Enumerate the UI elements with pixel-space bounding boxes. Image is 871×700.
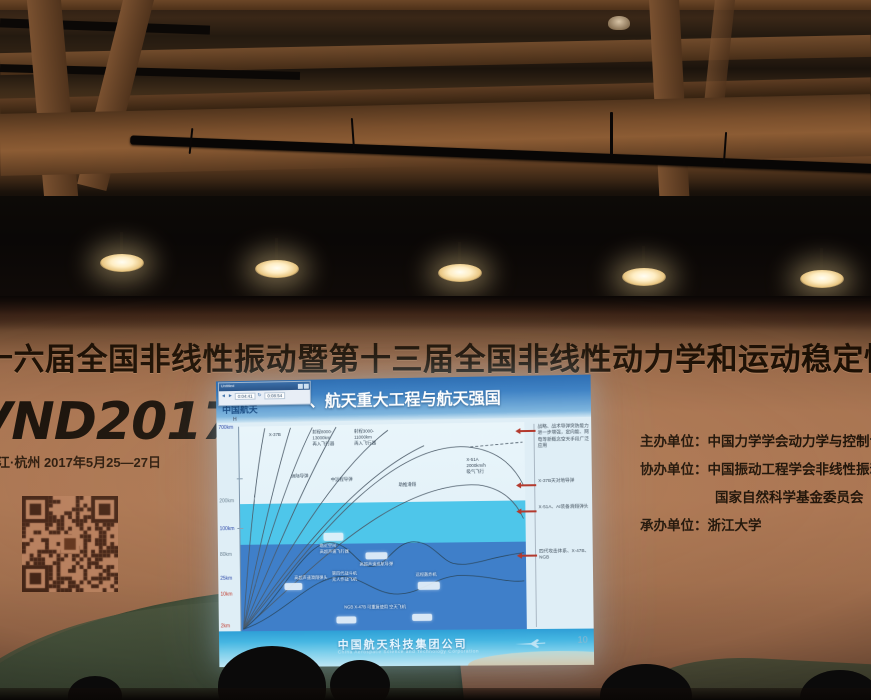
- chart-ylabel: H: [233, 417, 237, 423]
- organizer-row: 协办单位：中国振动工程学会非线性振动: [640, 456, 871, 484]
- spaceplane-glyph: [336, 616, 356, 623]
- pendant-stem: [458, 242, 461, 264]
- chart-curve-label: 中远程导弹: [331, 477, 353, 483]
- pendant-stem: [275, 238, 278, 260]
- media-time-current: 0:04:41: [235, 393, 256, 400]
- missile-glyph: [365, 552, 387, 559]
- pendant-bulb: [438, 264, 482, 282]
- slide-title: 、航天重大工程与航天强国: [309, 384, 501, 411]
- pendant-stem: [642, 246, 645, 268]
- organizer-label: 主办单位：: [640, 434, 708, 449]
- ceiling-dome-fixture: [608, 16, 630, 30]
- organizer-block: 主办单位：中国力学学会动力学与控制专 协办单位：中国振动工程学会非线性振动 国家…: [640, 428, 871, 540]
- trajectory-chart: H 700km 200km 100km 100km 80km 25km 10km…: [238, 422, 527, 632]
- chart-ytick: 700km: [218, 425, 233, 431]
- pendant-bulb: [255, 260, 299, 278]
- slide-page-number: 10: [578, 635, 588, 645]
- chart-curve-label: X-51A 2000km/h 吸气飞行: [466, 457, 486, 475]
- chart-object-label: 高超声速巡航导弹: [360, 561, 393, 567]
- chart-ytick: 200km: [219, 498, 234, 504]
- chart-curves: [239, 422, 527, 631]
- media-player-window[interactable]: Untitled ◄ ► 0:04:41 ↻ 0:08:54: [218, 381, 311, 407]
- organizer-row: 国家自然科学基金委员会: [640, 484, 871, 512]
- aircraft-glyph: [323, 533, 343, 541]
- pendant-bulb: [800, 270, 844, 288]
- pendant-light-1: [100, 248, 144, 270]
- footer-terrain-graphic: [468, 650, 594, 665]
- arrow-icon: [519, 430, 535, 432]
- chart-object-label: 第四代战斗机 无人作战飞机: [332, 570, 357, 581]
- ngb-glyph: [412, 614, 432, 621]
- pendant-light-5: [800, 264, 844, 286]
- pendant-bulb: [622, 268, 666, 286]
- prev-icon[interactable]: ◄: [221, 394, 226, 399]
- organizer-value: 国家自然科学基金委员会: [715, 490, 864, 505]
- annotation-item: 四代攻击体系、X-47B、NGB: [539, 548, 592, 571]
- annotation-item: 战略、战术导弹突防能力进一步增强，定向能、网电等新概念空天手段广泛应用: [537, 423, 590, 468]
- chart-curve-label: 助推滑翔: [399, 482, 417, 488]
- annotation-item: X-51A、AI装备滑翔弹头: [538, 504, 591, 527]
- banner-logo: VND2017: [0, 392, 237, 452]
- chart-object-label: 高超声速滑翔弹头: [294, 575, 327, 581]
- pendant-light-2: [255, 254, 299, 276]
- organizer-label: 协办单位：: [640, 462, 708, 477]
- chart-object-label: NGB X-47B 可重复使用 空天飞机: [344, 604, 406, 610]
- chart-ytick: 25km: [220, 576, 232, 582]
- close-icon[interactable]: [304, 383, 309, 388]
- arrow-icon: [520, 510, 536, 512]
- organizer-value: 浙江大学: [708, 518, 762, 533]
- organizer-value: 中国振动工程学会非线性振动: [708, 462, 871, 477]
- organizer-value: 中国力学学会动力学与控制专: [708, 434, 871, 449]
- chart-ytick: 10km: [220, 592, 232, 598]
- play-icon[interactable]: ►: [228, 394, 233, 399]
- annotation-text: X-37B天对地导弹: [538, 478, 574, 484]
- organizer-label: 承办单位：: [640, 518, 708, 533]
- airplane-icon: [513, 637, 547, 649]
- pendant-bulb: [100, 254, 144, 272]
- minimize-icon[interactable]: [298, 383, 303, 388]
- fighter-glyph: [418, 582, 440, 590]
- chart-curve-label: 射程3000- 11000km 再入飞行器: [354, 428, 376, 446]
- annotation-item: X-37B天对地导弹: [538, 477, 591, 494]
- qr-code-icon: [22, 496, 118, 592]
- chart-curve-label: 射程8000- 13000km 再入飞行器: [312, 429, 334, 447]
- chart-ytick: 80km: [220, 552, 232, 558]
- glider-glyph: [284, 583, 302, 590]
- annotation-divider: [533, 424, 537, 627]
- wall-top-shadow: [0, 296, 871, 330]
- chart-curve-label: 洲际导弹: [291, 473, 308, 479]
- stage-front-edge: [0, 688, 871, 700]
- pendant-light-4: [622, 262, 666, 284]
- refresh-icon[interactable]: ↻: [257, 394, 262, 399]
- ceiling: [0, 0, 871, 300]
- rig-cable-3: [610, 112, 613, 156]
- annotation-text: 四代攻击体系、X-47B、NGB: [539, 548, 589, 560]
- banner-subline: 浙江·杭州 2017年5月25—27日: [0, 452, 214, 471]
- pendant-stem: [120, 232, 123, 254]
- media-time-total: 0:08:54: [264, 392, 285, 399]
- pendant-stem: [820, 248, 823, 270]
- chart-curve-label: X-37B: [269, 432, 281, 438]
- banner-headline: 十六届全国非线性振动暨第十三届全国非线性动力学和运动稳定性学术会: [0, 334, 871, 379]
- annotation-text: 战略、战术导弹突防能力进一步增强，定向能、网电等新概念空天手段广泛应用: [537, 423, 588, 448]
- chart-object-label: 临近空间 高超声速飞行器: [320, 543, 349, 554]
- media-player-controls[interactable]: ◄ ► 0:04:41 ↻ 0:08:54: [219, 390, 310, 403]
- organizer-row: 承办单位：浙江大学: [640, 512, 871, 540]
- organizer-row: 主办单位：中国力学学会动力学与控制专: [640, 428, 871, 456]
- pendant-light-band: [0, 196, 871, 300]
- chart-object-label: 远程轰炸机: [416, 572, 437, 578]
- media-player-title: Untitled: [221, 383, 234, 388]
- footer-company-en: China Aerospace Science and Technology C…: [338, 648, 479, 654]
- arrow-icon: [520, 484, 536, 486]
- annotation-text: X-51A、AI装备滑翔弹头: [538, 504, 588, 510]
- chart-ytick: 100km: [220, 526, 235, 532]
- conference-hall-photo: 十六届全国非线性振动暨第十三届全国非线性动力学和运动稳定性学术会 VND2017…: [0, 0, 871, 700]
- pendant-light-3: [438, 258, 482, 280]
- arrow-icon: [521, 555, 537, 557]
- projection-screen: 、航天重大工程与航天强国 中国航天 Untitled ◄ ► 0:04:41 ↻…: [216, 375, 594, 668]
- annotation-column: 战略、战术导弹突防能力进一步增强，定向能、网电等新概念空天手段广泛应用 X-37…: [537, 423, 592, 581]
- chart-ytick: 2km: [221, 623, 230, 629]
